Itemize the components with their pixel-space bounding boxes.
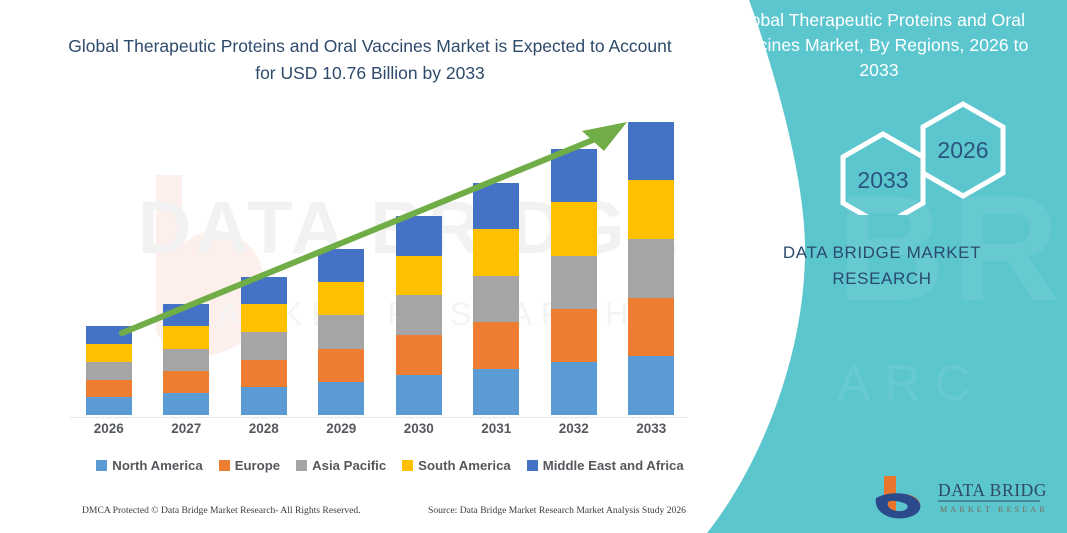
legend-label: Asia Pacific (312, 458, 386, 473)
bar-segment (628, 122, 674, 181)
svg-text:ARC: ARC (837, 355, 985, 411)
bar-2033 (628, 122, 674, 415)
bar-segment (628, 298, 674, 357)
bar-segment (628, 239, 674, 298)
axis-line (70, 417, 690, 418)
x-tick-2032: 2032 (544, 421, 604, 436)
bar-segment (86, 344, 132, 362)
legend-swatch-icon (296, 460, 307, 471)
legend-item-1[interactable]: Europe (219, 458, 280, 473)
bar-segment (473, 229, 519, 276)
bar-segment (163, 371, 209, 393)
logo-title: DATA BRIDGE (938, 480, 1048, 500)
legend-item-0[interactable]: North America (96, 458, 202, 473)
legend-label: North America (112, 458, 202, 473)
x-tick-2027: 2027 (156, 421, 216, 436)
legend-item-4[interactable]: Middle East and Africa (527, 458, 684, 473)
bar-segment (396, 295, 442, 335)
bar-segment (86, 397, 132, 415)
hexagon-group: 2026 2033 (767, 100, 1057, 215)
right-panel: BRI ARC Global Therapeutic Proteins and … (687, 0, 1067, 533)
legend-label: South America (418, 458, 511, 473)
legend-label: Middle East and Africa (543, 458, 684, 473)
x-tick-2028: 2028 (234, 421, 294, 436)
infographic-canvas: DATA BRIDGE MARKET RESEARCH Global Thera… (0, 0, 1067, 533)
bar-segment (551, 309, 597, 362)
bar-segment (318, 349, 364, 382)
bar-segment (318, 382, 364, 415)
x-tick-2029: 2029 (311, 421, 371, 436)
bar-segment (86, 380, 132, 398)
legend-swatch-icon (219, 460, 230, 471)
bar-segment (551, 256, 597, 309)
bar-segment (163, 349, 209, 371)
bar-segment (628, 180, 674, 239)
logo-subtitle: MARKET RESEARCH (940, 505, 1048, 514)
bar-segment (628, 356, 674, 415)
bar-segment (473, 322, 519, 369)
bar-segment (396, 256, 442, 296)
chart-plot-area (70, 105, 690, 415)
bar-segment (396, 375, 442, 415)
data-bridge-logo: DATA BRIDGE MARKET RESEARCH (868, 474, 1048, 522)
footer-source: Source: Data Bridge Market Research Mark… (428, 505, 686, 516)
chart-legend: North AmericaEuropeAsia PacificSouth Ame… (95, 455, 685, 475)
x-tick-2026: 2026 (79, 421, 139, 436)
bar-2030 (396, 216, 442, 415)
bar-segment (473, 183, 519, 230)
legend-swatch-icon (96, 460, 107, 471)
bar-segment (551, 149, 597, 202)
bar-segment (473, 276, 519, 323)
legend-item-3[interactable]: South America (402, 458, 511, 473)
bar-segment (551, 362, 597, 415)
hexagon-2033-label: 2033 (857, 167, 908, 193)
hexagon-2026-label: 2026 (937, 137, 988, 163)
stacked-bars (70, 105, 690, 415)
legend-item-2[interactable]: Asia Pacific (296, 458, 386, 473)
bar-2029 (318, 249, 364, 415)
bar-segment (318, 282, 364, 315)
legend-swatch-icon (402, 460, 413, 471)
bar-segment (473, 369, 519, 416)
footer: DMCA Protected © Data Bridge Market Rese… (0, 505, 700, 525)
bar-segment (241, 360, 287, 388)
bar-segment (241, 387, 287, 415)
legend-label: Europe (235, 458, 280, 473)
bar-segment (86, 362, 132, 380)
x-tick-2033: 2033 (621, 421, 681, 436)
bar-segment (241, 277, 287, 305)
bar-segment (318, 249, 364, 282)
x-tick-2030: 2030 (389, 421, 449, 436)
bar-segment (163, 326, 209, 348)
page-title: Global Therapeutic Proteins and Oral Vac… (60, 33, 680, 87)
bar-segment (241, 332, 287, 360)
bar-2026 (86, 326, 132, 415)
panel-brand-line2: RESEARCH (727, 266, 1037, 292)
bar-2031 (473, 183, 519, 416)
bar-2027 (163, 304, 209, 415)
bar-segment (396, 335, 442, 375)
bar-segment (163, 393, 209, 415)
panel-brand: DATA BRIDGE MARKET RESEARCH (727, 240, 1037, 292)
bar-segment (163, 304, 209, 326)
bar-2032 (551, 149, 597, 415)
bar-segment (241, 304, 287, 332)
bar-segment (86, 326, 132, 344)
bar-segment (396, 216, 442, 256)
x-tick-2031: 2031 (466, 421, 526, 436)
footer-copyright: DMCA Protected © Data Bridge Market Rese… (82, 505, 361, 516)
bar-2028 (241, 277, 287, 415)
panel-brand-line1: DATA BRIDGE MARKET (727, 240, 1037, 266)
x-axis: 20262027202820292030203120322033 (70, 417, 690, 443)
legend-swatch-icon (527, 460, 538, 471)
panel-title: Global Therapeutic Proteins and Oral Vac… (709, 8, 1049, 83)
bar-segment (551, 202, 597, 255)
bar-segment (318, 315, 364, 348)
